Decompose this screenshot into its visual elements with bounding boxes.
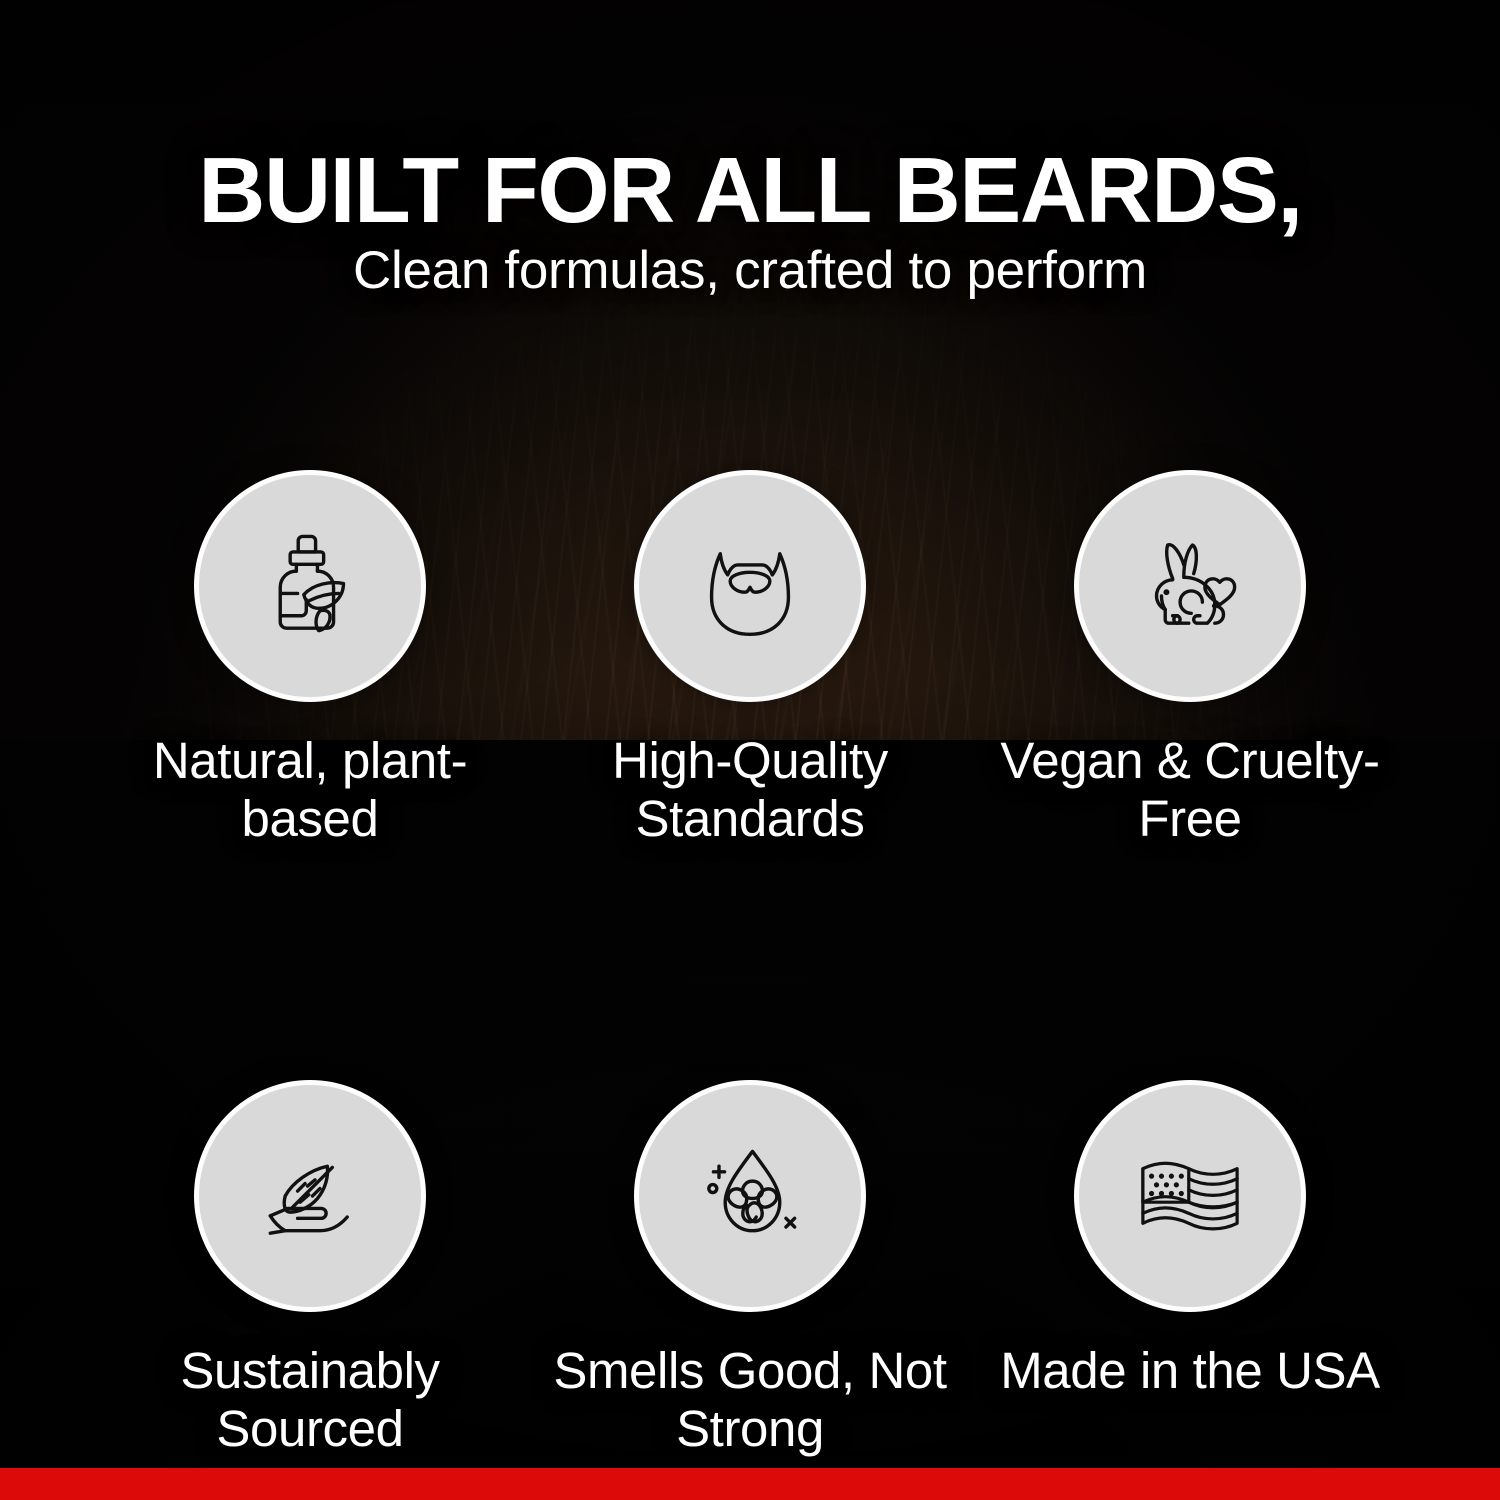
feature-label: Natural, plant-based <box>110 732 510 848</box>
feature-item-high-quality-standards: High-Quality Standards <box>540 470 960 848</box>
dropper-bottle-leaf-icon <box>248 524 372 648</box>
hand-feather-icon <box>248 1134 372 1258</box>
promo-banner: BUILT FOR ALL BEARDS, Clean formulas, cr… <box>0 0 1500 1500</box>
beard-icon <box>688 524 812 648</box>
feature-row-bottom: Sustainably Sourced <box>100 1080 1400 1458</box>
feature-label: High-Quality Standards <box>550 732 950 848</box>
feature-badge <box>634 1080 866 1312</box>
feature-badge <box>194 470 426 702</box>
accent-bar <box>0 1468 1500 1500</box>
feature-badge <box>194 1080 426 1312</box>
feature-item-natural-plant-based: Natural, plant-based <box>100 470 520 848</box>
feature-item-smells-good-not-strong: Smells Good, Not Strong <box>540 1080 960 1458</box>
rabbit-heart-icon <box>1128 524 1252 648</box>
feature-row-top: Natural, plant-based High-Quality Standa… <box>100 470 1400 848</box>
page-subtitle: Clean formulas, crafted to perform <box>0 242 1500 300</box>
usa-flag-icon <box>1128 1134 1252 1258</box>
feature-label: Made in the USA <box>1000 1342 1380 1400</box>
feature-badge <box>1074 1080 1306 1312</box>
feature-badge <box>1074 470 1306 702</box>
feature-item-vegan-cruelty-free: Vegan & Cruelty-Free <box>980 470 1400 848</box>
feature-item-made-in-the-usa: Made in the USA <box>980 1080 1400 1458</box>
feature-label: Smells Good, Not Strong <box>550 1342 950 1458</box>
droplet-flower-icon <box>688 1134 812 1258</box>
feature-label: Sustainably Sourced <box>110 1342 510 1458</box>
feature-grid: Natural, plant-based High-Quality Standa… <box>100 470 1400 1459</box>
feature-item-sustainably-sourced: Sustainably Sourced <box>100 1080 520 1458</box>
page-title: BUILT FOR ALL BEARDS, <box>0 144 1500 237</box>
feature-badge <box>634 470 866 702</box>
feature-label: Vegan & Cruelty-Free <box>990 732 1390 848</box>
